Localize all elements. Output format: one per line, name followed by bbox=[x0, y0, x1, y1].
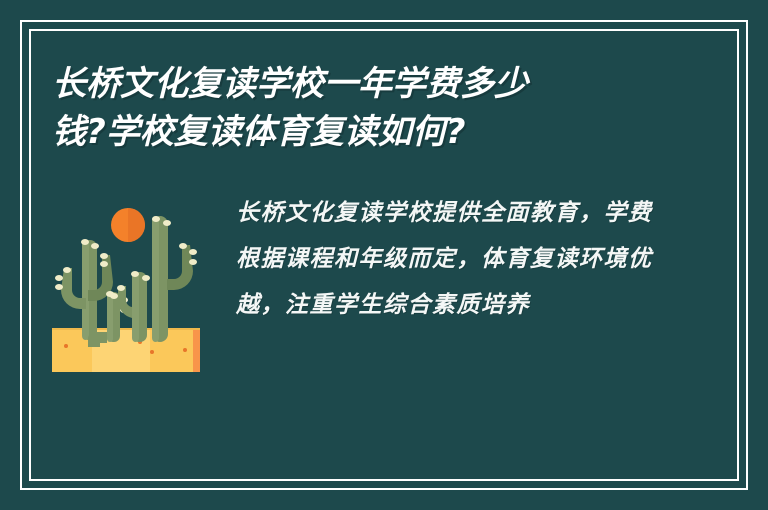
body-text: 长桥文化复读学校提供全面教育，学费根据课程和年级而定，体育复读环境优越，注重学生… bbox=[236, 190, 656, 328]
poster-canvas: 长桥文化复读学校一年学费多少 钱?学校复读体育复读如何? bbox=[0, 0, 768, 510]
desert-cactus-illustration bbox=[52, 200, 212, 380]
cactus-left bbox=[55, 239, 113, 340]
page-title-line-2: 钱?学校复读体育复读如何? bbox=[52, 108, 672, 156]
cactus-scene-svg bbox=[52, 200, 212, 380]
page-title: 长桥文化复读学校一年学费多少 钱?学校复读体育复读如何? bbox=[52, 60, 672, 156]
sand-ground bbox=[52, 328, 200, 372]
sun-icon bbox=[111, 208, 145, 242]
page-title-line-1: 长桥文化复读学校一年学费多少 bbox=[52, 60, 672, 108]
content-row: 长桥文化复读学校提供全面教育，学费根据课程和年级而定，体育复读环境优越，注重学生… bbox=[52, 190, 716, 380]
cactus-right bbox=[152, 216, 197, 342]
